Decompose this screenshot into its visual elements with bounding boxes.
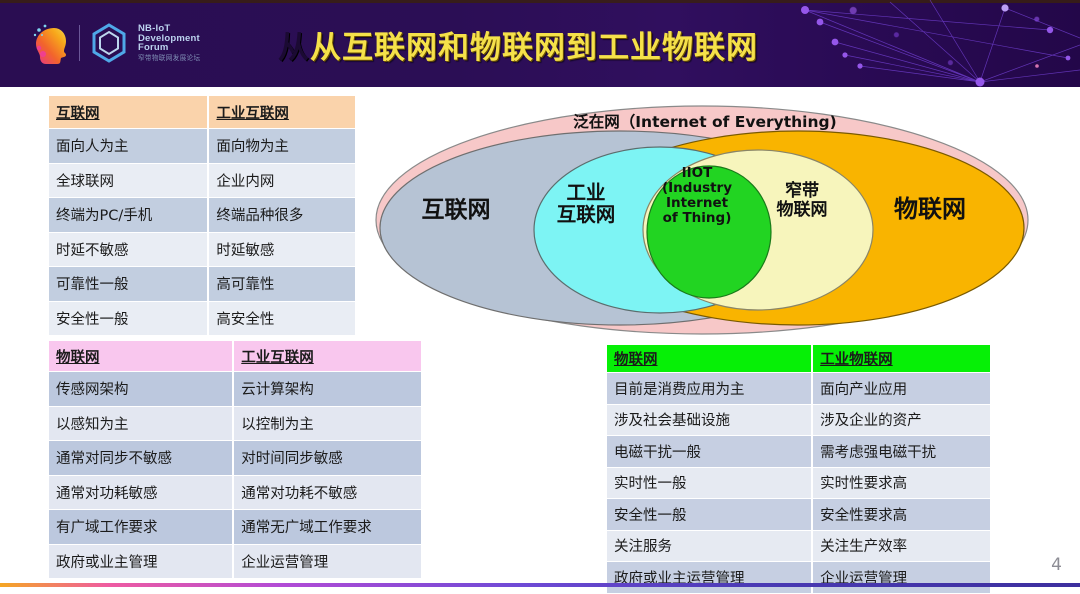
table3-r5-c0: 关注服务 (607, 531, 813, 563)
table2-r3-c0: 通常对功耗敏感 (49, 476, 234, 511)
table2-r1-c1: 以控制为主 (234, 407, 421, 442)
table-header-row: 互联网 工业互联网 (49, 96, 355, 129)
table-iot-vs-industrial-iot: 物联网 工业物联网 目前是消费应用为主 面向产业应用 涉及社会基础设施 涉及企业… (607, 345, 990, 594)
table-row: 电磁干扰一般 需考虑强电磁干扰 (607, 436, 990, 468)
table-row: 可靠性一般 高可靠性 (49, 267, 355, 302)
brand-logo: NB-IoT Development Forum 窄带物联网发展论坛 (30, 17, 204, 69)
table3-r0-c1: 面向产业应用 (813, 373, 990, 405)
table3-r6-c1: 企业运营管理 (813, 562, 990, 594)
table1-r3-c0: 时延不敏感 (49, 233, 209, 268)
table-row: 政府或业主管理 企业运营管理 (49, 545, 421, 580)
page-number: 4 (1051, 555, 1062, 575)
table3-r0-c0: 目前是消费应用为主 (607, 373, 813, 405)
venn-label-iiot-abbr: IIOT (682, 165, 713, 181)
table2-r5-c1: 企业运营管理 (234, 545, 421, 580)
hexagon-icon (89, 22, 129, 64)
table-iot-vs-industrial-internet: 物联网 工业互联网 传感网架构 云计算架构 以感知为主 以控制为主 通常对同步不… (49, 341, 421, 579)
venn-label-nb-iot: 窄带 物联网 (766, 182, 838, 220)
table3-r3-c0: 实时性一般 (607, 468, 813, 500)
slide-canvas: NB-IoT Development Forum 窄带物联网发展论坛 从 从互联… (0, 0, 1080, 587)
table2-r3-c1: 通常对功耗不敏感 (234, 476, 421, 511)
table-row: 目前是消费应用为主 面向产业应用 (607, 373, 990, 405)
table3-r4-c0: 安全性一般 (607, 499, 813, 531)
table3-r1-c1: 涉及企业的资产 (813, 405, 990, 437)
table1-r5-c0: 安全性一般 (49, 302, 209, 337)
table3-header-col1: 物联网 (607, 345, 813, 373)
table2-r0-c1: 云计算架构 (234, 372, 421, 407)
table-row: 全球联网 企业内网 (49, 164, 355, 199)
table3-r6-c0: 政府或业主运营管理 (607, 562, 813, 594)
table-row: 终端为PC/手机 终端品种很多 (49, 198, 355, 233)
table-header-row: 物联网 工业互联网 (49, 341, 421, 372)
table3-r2-c1: 需考虑强电磁干扰 (813, 436, 990, 468)
table2-r1-c0: 以感知为主 (49, 407, 234, 442)
table2-r4-c1: 通常无广域工作要求 (234, 510, 421, 545)
table1-r5-c1: 高安全性 (209, 302, 355, 337)
table-row: 关注服务 关注生产效率 (607, 531, 990, 563)
page-title: 从 从互联网和物联网到工业物联网 (278, 18, 838, 70)
table3-header-col2: 工业物联网 (813, 345, 990, 373)
table2-r4-c0: 有广域工作要求 (49, 510, 234, 545)
logo-line-3: Forum (138, 43, 204, 53)
table1-header-col2: 工业互联网 (209, 96, 355, 129)
table2-header-col2: 工业互联网 (234, 341, 421, 372)
table-row: 政府或业主运营管理 企业运营管理 (607, 562, 990, 594)
table1-r2-c1: 终端品种很多 (209, 198, 355, 233)
table-row: 面向人为主 面向物为主 (49, 129, 355, 164)
table-row: 安全性一般 高安全性 (49, 302, 355, 337)
table-row: 时延不敏感 时延敏感 (49, 233, 355, 268)
venn-label-iiot: IIOT (Industry Internet of Thing) (630, 166, 764, 226)
table1-r4-c0: 可靠性一般 (49, 267, 209, 302)
table2-r5-c0: 政府或业主管理 (49, 545, 234, 580)
table1-header-col1: 互联网 (49, 96, 209, 129)
table2-r2-c1: 对时间同步敏感 (234, 441, 421, 476)
colorful-head-icon (30, 21, 70, 65)
table3-r1-c0: 涉及社会基础设施 (607, 405, 813, 437)
table2-header-col1: 物联网 (49, 341, 234, 372)
table1-r0-c1: 面向物为主 (209, 129, 355, 164)
table-row: 有广域工作要求 通常无广域工作要求 (49, 510, 421, 545)
table3-r2-c0: 电磁干扰一般 (607, 436, 813, 468)
table-row: 以感知为主 以控制为主 (49, 407, 421, 442)
table-header-row: 物联网 工业物联网 (607, 345, 990, 373)
venn-label-industrial-internet: 工业 互联网 (540, 182, 632, 226)
table1-r1-c1: 企业内网 (209, 164, 355, 199)
table-row: 通常对功耗敏感 通常对功耗不敏感 (49, 476, 421, 511)
page-title-main: 从互联网和物联网到工业物联网 (310, 22, 758, 67)
slide-header: NB-IoT Development Forum 窄带物联网发展论坛 从 从互联… (0, 0, 1080, 87)
table1-r4-c1: 高可靠性 (209, 267, 355, 302)
venn-label-iiot-full: (Industry Internet of Thing) (662, 180, 732, 226)
table-row: 传感网架构 云计算架构 (49, 372, 421, 407)
table-row: 实时性一般 实时性要求高 (607, 468, 990, 500)
logo-divider (79, 25, 80, 61)
table2-r2-c0: 通常对同步不敏感 (49, 441, 234, 476)
table-row: 安全性一般 安全性要求高 (607, 499, 990, 531)
table3-r3-c1: 实时性要求高 (813, 468, 990, 500)
logo-text-block: NB-IoT Development Forum 窄带物联网发展论坛 (138, 24, 204, 62)
venn-diagram: 泛在网（Internet of Everything) 互联网 工业 互联网 I… (368, 104, 1036, 336)
table-row: 涉及社会基础设施 涉及企业的资产 (607, 405, 990, 437)
table2-r0-c0: 传感网架构 (49, 372, 234, 407)
footer-accent-strip (0, 583, 1080, 587)
table-internet-vs-industrial-internet: 互联网 工业互联网 面向人为主 面向物为主 全球联网 企业内网 终端为PC/手机… (49, 96, 355, 336)
logo-subtitle-cn: 窄带物联网发展论坛 (138, 55, 200, 62)
venn-label-internet-of-everything: 泛在网（Internet of Everything) (550, 114, 860, 131)
table3-r5-c1: 关注生产效率 (813, 531, 990, 563)
table-row: 通常对同步不敏感 对时间同步敏感 (49, 441, 421, 476)
venn-label-internet: 互联网 (396, 198, 516, 224)
page-title-prefix: 从 (278, 22, 310, 67)
table1-r0-c0: 面向人为主 (49, 129, 209, 164)
table1-r3-c1: 时延敏感 (209, 233, 355, 268)
venn-label-iot: 物联网 (866, 196, 994, 223)
table1-r1-c0: 全球联网 (49, 164, 209, 199)
table1-r2-c0: 终端为PC/手机 (49, 198, 209, 233)
table3-r4-c1: 安全性要求高 (813, 499, 990, 531)
